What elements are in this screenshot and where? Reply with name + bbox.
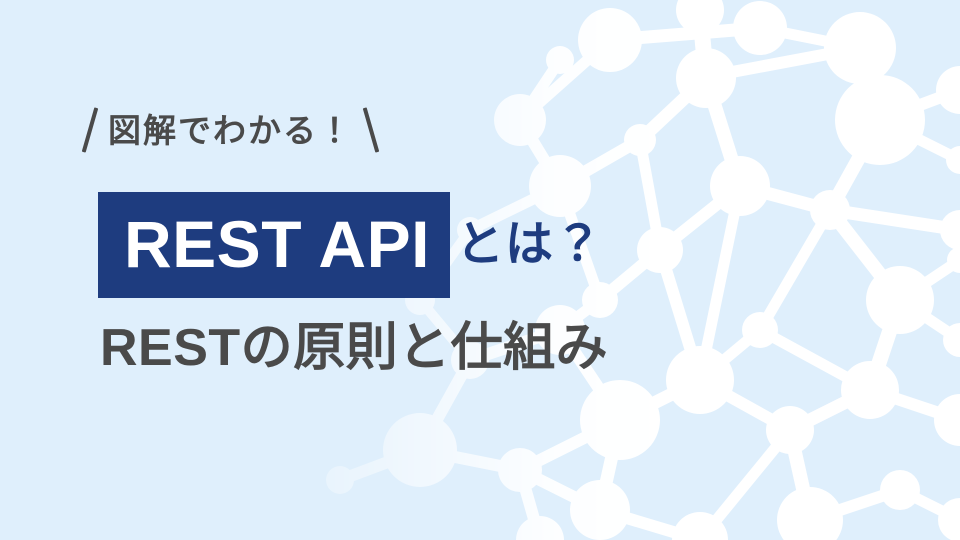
title-suffix: とは？	[456, 221, 603, 269]
eyebrow-label: 図解でわかる！	[108, 114, 353, 147]
page-title: REST API	[98, 192, 450, 298]
content-layer: 図解でわかる！ REST API とは？ RESTの原則と仕組み	[0, 0, 960, 540]
slash-right-icon	[363, 107, 380, 152]
page-subtitle: RESTの原則と仕組み	[100, 320, 608, 377]
slide-canvas: 図解でわかる！ REST API とは？ RESTの原則と仕組み	[0, 0, 960, 540]
title-row: REST API とは？	[98, 192, 603, 298]
slash-left-icon	[82, 107, 99, 152]
eyebrow-row: 図解でわかる！	[88, 102, 373, 158]
